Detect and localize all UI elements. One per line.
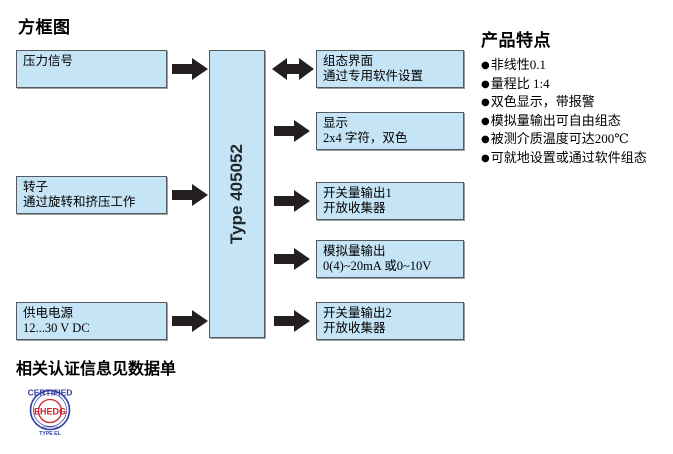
block-line: 显示	[323, 116, 458, 131]
list-item: ●可就地设置或通过软件组态	[481, 149, 671, 168]
block-pressure-signal: 压力信号	[16, 50, 167, 88]
logo-top-text: CERTIFIED	[28, 388, 73, 398]
bullet-icon: ●	[481, 97, 490, 108]
list-item-label: 非线性0.1	[491, 57, 546, 72]
arrow-right-icon	[172, 58, 208, 80]
arrow-right-icon	[274, 310, 310, 332]
block-line: 转子	[23, 180, 161, 195]
product-features-list: ●非线性0.1 ●量程比 1:4 ●双色显示，带报警 ●模拟量输出可自由组态 ●…	[481, 56, 671, 167]
block-power-supply: 供电电源 12...30 V DC	[16, 302, 167, 340]
arrow-right-icon	[274, 248, 310, 270]
list-item: ●双色显示，带报警	[481, 93, 671, 112]
arrow-right-icon	[172, 184, 208, 206]
ehedg-certification-logo-icon: CERTIFIED EHEDG •••••••••••••• TYPE EL	[24, 385, 76, 437]
certification-note: 相关认证信息见数据单	[16, 355, 176, 379]
list-item-label: 双色显示，带报警	[491, 94, 595, 109]
block-line: 组态界面	[323, 54, 458, 69]
logo-center-text: EHEDG	[34, 407, 66, 417]
bullet-icon: ●	[481, 153, 490, 164]
list-item: ●量程比 1:4	[481, 75, 671, 94]
list-item: ●模拟量输出可自由组态	[481, 112, 671, 131]
block-device-type: Type 405052	[209, 50, 265, 338]
bullet-icon: ●	[481, 79, 490, 90]
device-type-label: Type 405052	[227, 144, 247, 244]
list-item: ●被测介质温度可达200℃	[481, 130, 671, 149]
list-item-label: 量程比 1:4	[491, 76, 550, 91]
block-line: 通过旋转和挤压工作	[23, 195, 161, 210]
block-line: 开关量输出1	[323, 186, 458, 201]
block-analog-output: 模拟量输出 0(4)~20mA 或0~10V	[316, 240, 464, 278]
arrow-right-icon	[172, 310, 208, 332]
block-line: 开放收集器	[323, 201, 458, 216]
list-item-label: 可就地设置或通过软件组态	[491, 150, 647, 165]
block-line: 开放收集器	[323, 321, 458, 336]
block-digital-output-1: 开关量输出1 开放收集器	[316, 182, 464, 220]
arrow-right-icon	[274, 120, 310, 142]
arrow-right-icon	[274, 190, 310, 212]
bullet-icon: ●	[481, 116, 490, 127]
list-item-label: 模拟量输出可自由组态	[491, 113, 621, 128]
block-configuration-interface: 组态界面 通过专用软件设置	[316, 50, 464, 88]
block-line: 0(4)~20mA 或0~10V	[323, 259, 458, 274]
block-line: 压力信号	[23, 54, 161, 69]
arrow-bidirectional-icon	[272, 58, 314, 80]
list-item: ●非线性0.1	[481, 56, 671, 75]
svg-text:••••••••••••••: ••••••••••••••	[42, 425, 58, 429]
logo-bottom-text: TYPE EL	[39, 431, 61, 437]
block-digital-output-2: 开关量输出2 开放收集器	[316, 302, 464, 340]
block-rotor: 转子 通过旋转和挤压工作	[16, 176, 167, 214]
block-line: 模拟量输出	[323, 244, 458, 259]
block-display: 显示 2x4 字符，双色	[316, 112, 464, 150]
block-diagram-page: 方框图 产品特点 相关认证信息见数据单 压力信号 转子 通过旋转和挤压工作 供电…	[0, 0, 673, 454]
block-line: 供电电源	[23, 306, 161, 321]
block-line: 2x4 字符，双色	[323, 131, 458, 146]
block-line: 12...30 V DC	[23, 321, 161, 336]
bullet-icon: ●	[481, 134, 490, 145]
page-title-block-diagram: 方框图	[18, 13, 71, 38]
bullet-icon: ●	[481, 60, 490, 71]
block-line: 通过专用软件设置	[323, 69, 458, 84]
block-line: 开关量输出2	[323, 306, 458, 321]
list-item-label: 被测介质温度可达200℃	[491, 131, 629, 146]
section-title-product-features: 产品特点	[481, 26, 551, 51]
